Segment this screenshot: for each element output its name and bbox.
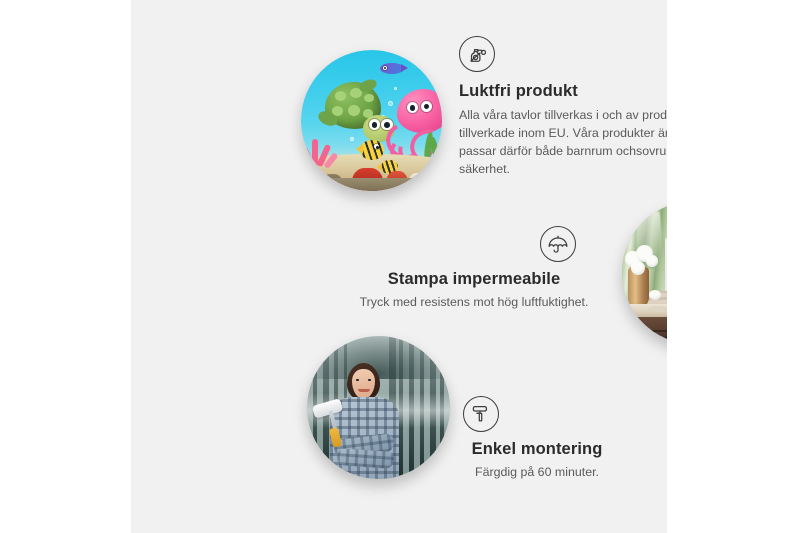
feature-title: Luktfri produkt <box>459 82 667 101</box>
feature-odourless: Luktfri produkt Alla våra tavlor tillver… <box>459 36 667 178</box>
underwater-cartoon-mural[interactable] <box>301 50 442 191</box>
vanity-seam <box>622 330 667 332</box>
white-flower <box>646 255 657 266</box>
feature-body: Färgdig på 60 minuter. <box>449 464 625 482</box>
feature-title: Enkel montering <box>449 440 625 459</box>
screenshot-root: Luktfri produkt Alla våra tavlor tillver… <box>0 0 800 533</box>
fish-pupil-icon <box>376 146 379 149</box>
white-flower <box>649 290 660 300</box>
soap-dish <box>648 306 667 312</box>
paint-roller-icon <box>463 396 499 432</box>
underwater-cartoon-mural-image <box>301 50 442 191</box>
turtle-pupil-icon <box>384 122 390 128</box>
no-odour-icon <box>459 36 495 72</box>
feature-waterproof: Stampa impermeabile Tryck med resistens … <box>346 226 602 312</box>
bathroom-botanical-wallpaper[interactable] <box>622 201 667 344</box>
woman-with-paint-roller-image <box>307 336 450 479</box>
feature-panel: Luktfri produkt Alla våra tavlor tillver… <box>131 0 667 533</box>
fish-tail-icon <box>401 64 408 72</box>
fish-tail-icon <box>356 144 363 154</box>
bathroom-botanical-wallpaper-image <box>622 201 667 344</box>
sea-floor-band <box>301 178 442 191</box>
feature-icon-row <box>449 396 625 432</box>
umbrella-icon <box>540 226 576 262</box>
woman-eye <box>356 379 359 381</box>
drawer-handle <box>653 337 667 340</box>
turtle-pupil-icon <box>372 122 378 128</box>
octopus-pupil-icon <box>410 105 416 111</box>
feature-title: Stampa impermeabile <box>346 270 602 289</box>
woman-smile <box>358 389 369 392</box>
turtle-shell-spot <box>335 91 346 101</box>
feature-easy-mounting: Enkel montering Färgdig på 60 minuter. <box>449 396 625 482</box>
feature-icon-row <box>346 226 602 262</box>
feature-body: Tryck med resistens mot hög luftfuktighe… <box>346 294 602 312</box>
fish-icon <box>360 140 384 160</box>
feature-body: Alla våra tavlor tillverkas i och av pro… <box>459 107 667 178</box>
bubble-icon <box>394 87 397 90</box>
woman-with-paint-roller[interactable] <box>307 336 450 479</box>
